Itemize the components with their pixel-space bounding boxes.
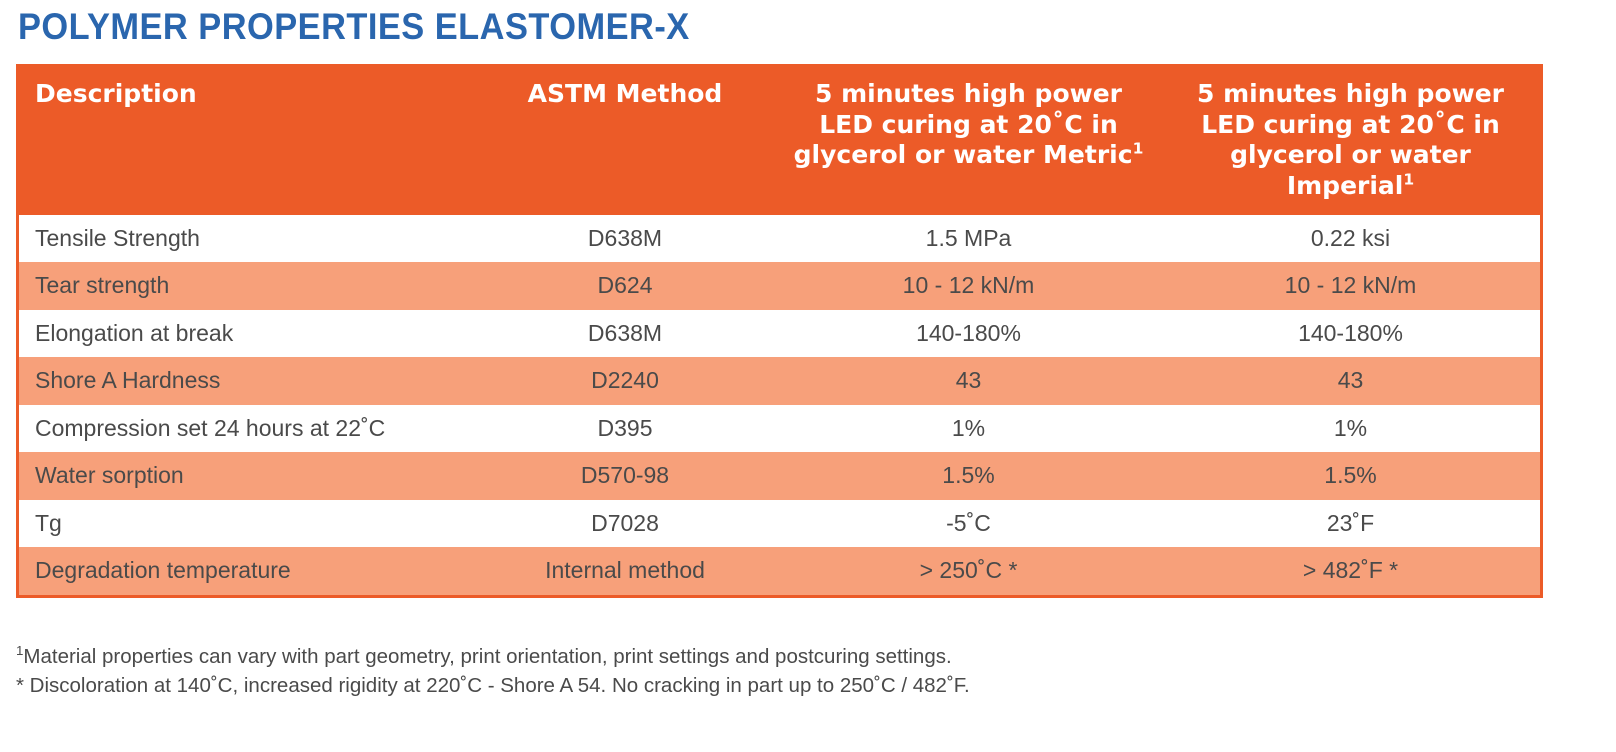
cell-description: Water sorption bbox=[19, 452, 474, 499]
cell-metric: 140-180% bbox=[776, 310, 1161, 357]
table-row: Tear strengthD62410 - 12 kN/m10 - 12 kN/… bbox=[19, 262, 1540, 309]
cell-astm-method: D395 bbox=[474, 405, 776, 452]
footnote-1-text: Material properties can vary with part g… bbox=[23, 645, 951, 668]
cell-imperial: 43 bbox=[1161, 357, 1540, 404]
cell-imperial: 1.5% bbox=[1161, 452, 1540, 499]
cell-metric: 1.5 MPa bbox=[776, 215, 1161, 262]
polymer-properties-datasheet: POLYMER PROPERTIES ELASTOMER-X Descripti… bbox=[0, 0, 1616, 752]
table-row: Water sorptionD570-981.5%1.5% bbox=[19, 452, 1540, 499]
cell-description: Tg bbox=[19, 500, 474, 547]
table-header-row: Description ASTM Method 5 minutes high p… bbox=[19, 67, 1540, 215]
properties-table-container: Description ASTM Method 5 minutes high p… bbox=[16, 64, 1543, 598]
cell-astm-method: Internal method bbox=[474, 547, 776, 594]
table-row: TgD7028-5˚C23˚F bbox=[19, 500, 1540, 547]
table-body: Tensile StrengthD638M1.5 MPa0.22 ksiTear… bbox=[19, 215, 1540, 595]
cell-imperial: 140-180% bbox=[1161, 310, 1540, 357]
cell-description: Shore A Hardness bbox=[19, 357, 474, 404]
cell-imperial: 0.22 ksi bbox=[1161, 215, 1540, 262]
cell-description: Tensile Strength bbox=[19, 215, 474, 262]
cell-description: Tear strength bbox=[19, 262, 474, 309]
cell-imperial: 10 - 12 kN/m bbox=[1161, 262, 1540, 309]
cell-astm-method: D570-98 bbox=[474, 452, 776, 499]
cell-astm-method: D638M bbox=[474, 310, 776, 357]
table-row: Compression set 24 hours at 22˚CD3951%1% bbox=[19, 405, 1540, 452]
table-row: Tensile StrengthD638M1.5 MPa0.22 ksi bbox=[19, 215, 1540, 262]
cell-imperial: 23˚F bbox=[1161, 500, 1540, 547]
column-header-metric-text: 5 minutes high power LED curing at 20˚C … bbox=[794, 79, 1133, 169]
cell-metric: > 250˚C * bbox=[776, 547, 1161, 594]
cell-astm-method: D2240 bbox=[474, 357, 776, 404]
column-header-imperial-text: 5 minutes high power LED curing at 20˚C … bbox=[1197, 79, 1504, 200]
table-row: Degradation temperatureInternal method> … bbox=[19, 547, 1540, 594]
column-header-imperial: 5 minutes high power LED curing at 20˚C … bbox=[1161, 67, 1540, 215]
column-header-astm-method: ASTM Method bbox=[474, 67, 776, 215]
cell-metric: 10 - 12 kN/m bbox=[776, 262, 1161, 309]
footnote-1: 1Material properties can vary with part … bbox=[16, 642, 1576, 671]
cell-metric: 43 bbox=[776, 357, 1161, 404]
column-header-metric-footnote-marker: 1 bbox=[1133, 140, 1144, 158]
cell-imperial: > 482˚F * bbox=[1161, 547, 1540, 594]
column-header-description: Description bbox=[19, 67, 474, 215]
table-header: Description ASTM Method 5 minutes high p… bbox=[19, 67, 1540, 215]
cell-metric: -5˚C bbox=[776, 500, 1161, 547]
column-header-imperial-footnote-marker: 1 bbox=[1403, 170, 1414, 188]
cell-astm-method: D7028 bbox=[474, 500, 776, 547]
cell-description: Degradation temperature bbox=[19, 547, 474, 594]
cell-astm-method: D638M bbox=[474, 215, 776, 262]
cell-metric: 1% bbox=[776, 405, 1161, 452]
cell-description: Compression set 24 hours at 22˚C bbox=[19, 405, 474, 452]
page-title: POLYMER PROPERTIES ELASTOMER-X bbox=[18, 6, 690, 48]
table-row: Elongation at breakD638M140-180%140-180% bbox=[19, 310, 1540, 357]
cell-imperial: 1% bbox=[1161, 405, 1540, 452]
cell-metric: 1.5% bbox=[776, 452, 1161, 499]
cell-astm-method: D624 bbox=[474, 262, 776, 309]
footnotes: 1Material properties can vary with part … bbox=[16, 642, 1576, 700]
cell-description: Elongation at break bbox=[19, 310, 474, 357]
properties-table: Description ASTM Method 5 minutes high p… bbox=[19, 67, 1540, 595]
footnote-2: * Discoloration at 140˚C, increased rigi… bbox=[16, 671, 1576, 700]
column-header-metric: 5 minutes high power LED curing at 20˚C … bbox=[776, 67, 1161, 215]
table-row: Shore A HardnessD22404343 bbox=[19, 357, 1540, 404]
